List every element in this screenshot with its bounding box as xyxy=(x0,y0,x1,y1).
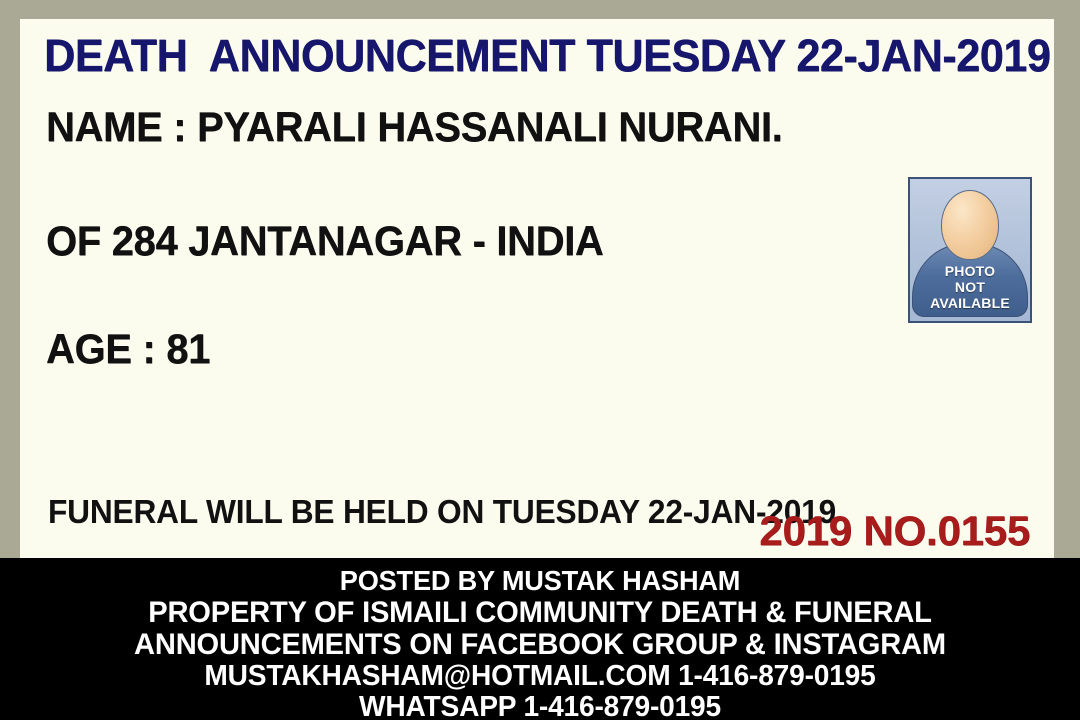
deceased-age-line: AGE : 81 xyxy=(46,325,210,373)
reference-number: 2019 NO.0155 xyxy=(759,507,1030,555)
death-announcement-notice: DEATH ANNOUNCEMENT TUESDAY 22-JAN-2019 N… xyxy=(0,0,1080,720)
placeholder-caption-line-2: NOT xyxy=(910,279,1030,295)
placeholder-caption: PHOTO NOT AVAILABLE xyxy=(910,263,1030,311)
person-head-icon xyxy=(941,190,999,260)
footer-whatsapp: WHATSAPP 1-416-879-0195 xyxy=(16,692,1064,720)
footer-credit-block: POSTED BY MUSTAK HASHAM PROPERTY OF ISMA… xyxy=(0,558,1080,720)
deceased-name-line: NAME : PYARALI HASSANALI NURANI. xyxy=(46,103,782,151)
footer-property-line: PROPERTY OF ISMAILI COMMUNITY DEATH & FU… xyxy=(16,597,1064,629)
announcement-title: DEATH ANNOUNCEMENT TUESDAY 22-JAN-2019 xyxy=(44,30,996,82)
footer-posted-by: POSTED BY MUSTAK HASHAM xyxy=(16,564,1064,597)
announcement-card: DEATH ANNOUNCEMENT TUESDAY 22-JAN-2019 N… xyxy=(20,19,1054,558)
placeholder-caption-line-1: PHOTO xyxy=(910,263,1030,279)
placeholder-caption-line-3: AVAILABLE xyxy=(910,295,1030,311)
footer-announcements-line: ANNOUNCEMENTS ON FACEBOOK GROUP & INSTAG… xyxy=(16,629,1064,661)
footer-email-phone: MUSTAKHASHAM@HOTMAIL.COM 1-416-879-0195 xyxy=(16,661,1064,692)
deceased-address-line: OF 284 JANTANAGAR - INDIA xyxy=(46,217,603,265)
photo-not-available-placeholder: PHOTO NOT AVAILABLE xyxy=(908,177,1032,323)
